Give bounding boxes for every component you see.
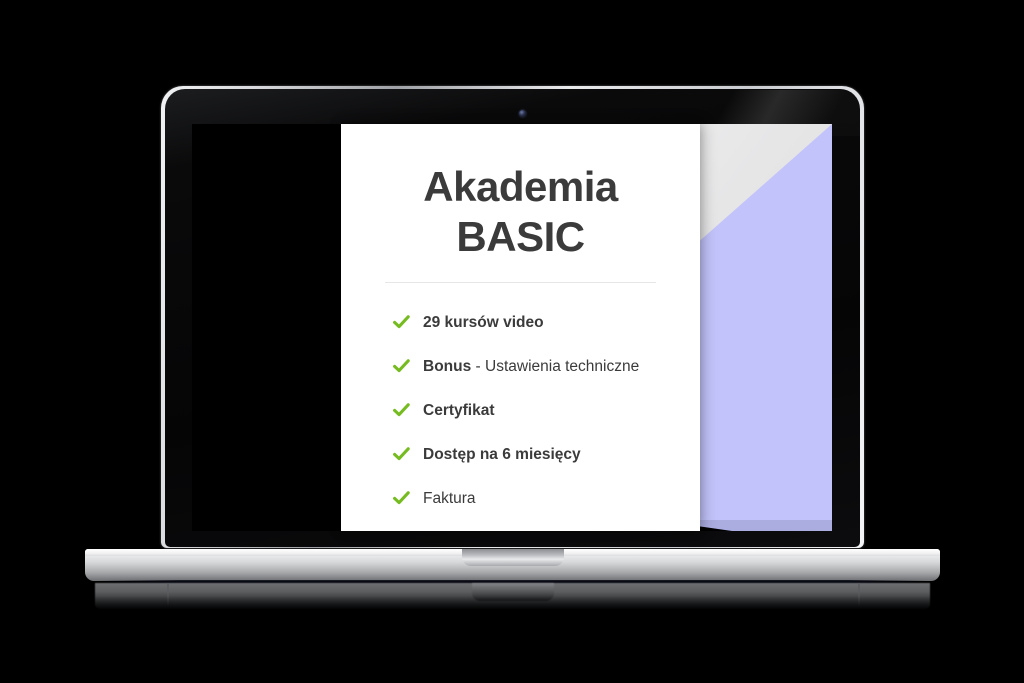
feature-label-rest: Ustawienia techniczne [485, 358, 639, 375]
webcam-icon [519, 110, 526, 117]
check-icon [393, 446, 410, 463]
check-icon [393, 490, 410, 507]
check-icon [393, 358, 410, 375]
card-title-line-2: BASIC [375, 212, 666, 262]
feature-label-separator: - [471, 358, 485, 375]
feature-label-bold-prefix: Bonus [423, 358, 471, 375]
list-item: Dostęp na 6 miesięcy [393, 443, 666, 466]
check-icon [393, 314, 410, 331]
screen-dark-area-left [192, 124, 341, 531]
laptop-mockup: Akademia BASIC 29 kursów video [0, 0, 1024, 683]
card-divider [385, 282, 656, 283]
check-icon [393, 402, 410, 419]
card-title-line-1: Akademia [375, 162, 666, 212]
reflection-fade-overlay [60, 596, 965, 642]
feature-label: Dostęp na 6 miesięcy [423, 443, 581, 466]
card-title: Akademia BASIC [375, 162, 666, 262]
laptop-base-notch [462, 549, 564, 566]
list-item: Faktura [393, 487, 666, 510]
list-item: 29 kursów video [393, 311, 666, 334]
feature-list: 29 kursów video Bonus - Ustawienia techn… [393, 311, 666, 510]
list-item: Bonus - Ustawienia techniczne [393, 355, 666, 378]
screenshot-canvas: Akademia BASIC 29 kursów video [0, 0, 1024, 683]
feature-label: Bonus - Ustawienia techniczne [423, 355, 639, 378]
feature-label: Faktura [423, 487, 476, 510]
feature-label: 29 kursów video [423, 311, 544, 334]
feature-label: Certyfikat [423, 399, 495, 422]
list-item: Certyfikat [393, 399, 666, 422]
pricing-card: Akademia BASIC 29 kursów video [341, 124, 700, 531]
